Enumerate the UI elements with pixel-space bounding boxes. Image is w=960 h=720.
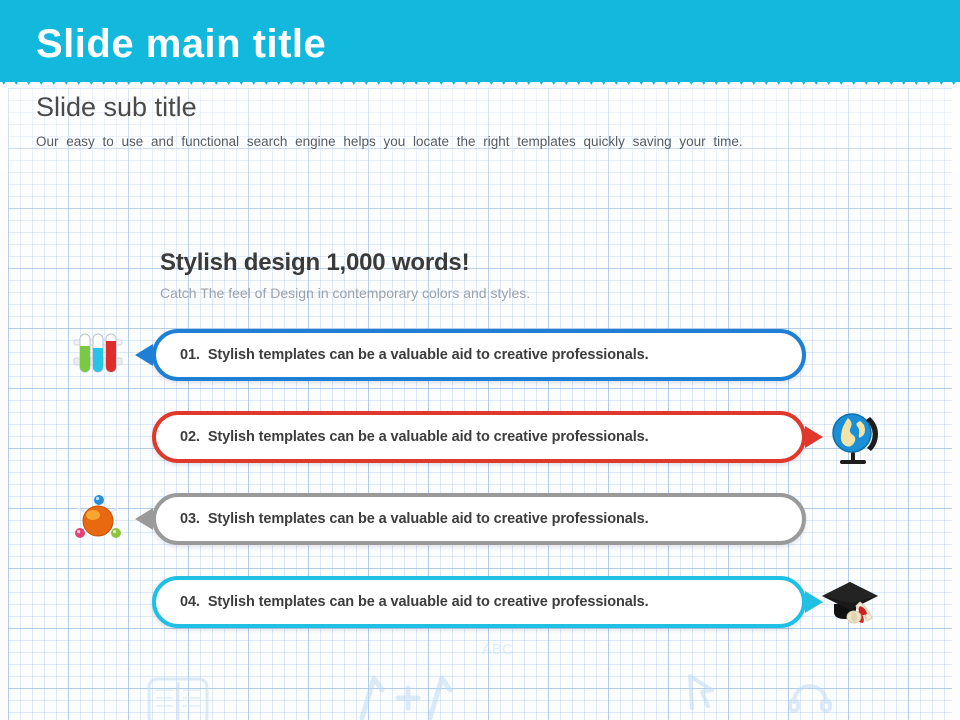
callout-number-1: 01. [180,347,200,363]
callout-label-3: Stylish templates can be a valuable aid … [208,511,649,527]
callout-text-1: 01.Stylish templates can be a valuable a… [180,347,649,363]
callout-arrow-right-4 [805,591,823,613]
callout-label-4: Stylish templates can be a valuable aid … [208,594,649,610]
callout-number-2: 02. [180,429,200,445]
callout-label-2: Stylish templates can be a valuable aid … [208,429,649,445]
callout-arrow-right-2 [805,426,823,448]
callout-label-1: Stylish templates can be a valuable aid … [208,347,649,363]
globe-icon [824,408,882,466]
slide-canvas: ABC Slide main title Slide sub title Our… [0,0,960,720]
content-block-subtitle: Catch The feel of Design in contemporary… [160,285,530,301]
callout-bar-3[interactable]: 03.Stylish templates can be a valuable a… [152,493,806,545]
callout-number-4: 04. [180,594,200,610]
atom-icon [68,492,128,548]
content-block-title: Stylish design 1,000 words! [160,249,469,277]
callout-bar-1[interactable]: 01.Stylish templates can be a valuable a… [152,329,806,381]
callout-text-3: 03.Stylish templates can be a valuable a… [180,511,649,527]
header-zigzag-edge [0,66,960,88]
slide-main-title: Slide main title [36,22,326,67]
callout-bar-2[interactable]: 02.Stylish templates can be a valuable a… [152,411,806,463]
callout-number-3: 03. [180,511,200,527]
test-tubes-icon [70,328,126,378]
slide-lead-paragraph: Our easy to use and functional search en… [36,134,876,149]
callout-text-2: 02.Stylish templates can be a valuable a… [180,429,649,445]
callout-arrow-left-3 [135,508,153,530]
slide-sub-title: Slide sub title [36,92,197,123]
callout-text-4: 04.Stylish templates can be a valuable a… [180,594,649,610]
callout-arrow-left-1 [135,344,153,366]
graduation-cap-icon [820,572,884,630]
callout-bar-4[interactable]: 04.Stylish templates can be a valuable a… [152,576,806,628]
